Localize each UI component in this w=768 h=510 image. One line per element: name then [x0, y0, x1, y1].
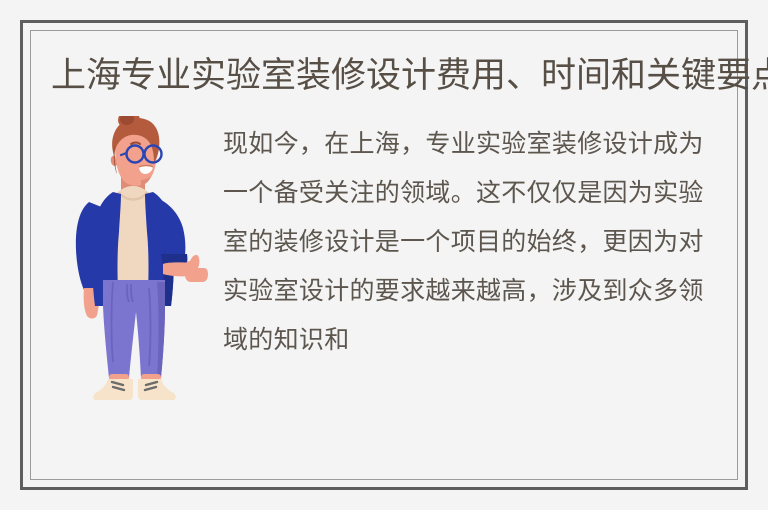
article-body-row: 现如今，在上海，专业实验室装修设计成为一个备受关注的领域。这不仅仅是因为实验室的…	[49, 114, 719, 406]
article-card: 上海专业实验室装修设计费用、时间和关键要点	[20, 20, 748, 490]
article-inner-frame: 上海专业实验室装修设计费用、时间和关键要点	[30, 30, 738, 480]
person-with-thumbs-up-illustration	[57, 116, 209, 406]
page-title: 上海专业实验室装修设计费用、时间和关键要点	[49, 53, 719, 100]
article-body-text: 现如今，在上海，专业实验室装修设计成为一个备受关注的领域。这不仅仅是因为实验室的…	[209, 114, 719, 365]
article-content: 上海专业实验室装修设计费用、时间和关键要点	[31, 31, 737, 479]
